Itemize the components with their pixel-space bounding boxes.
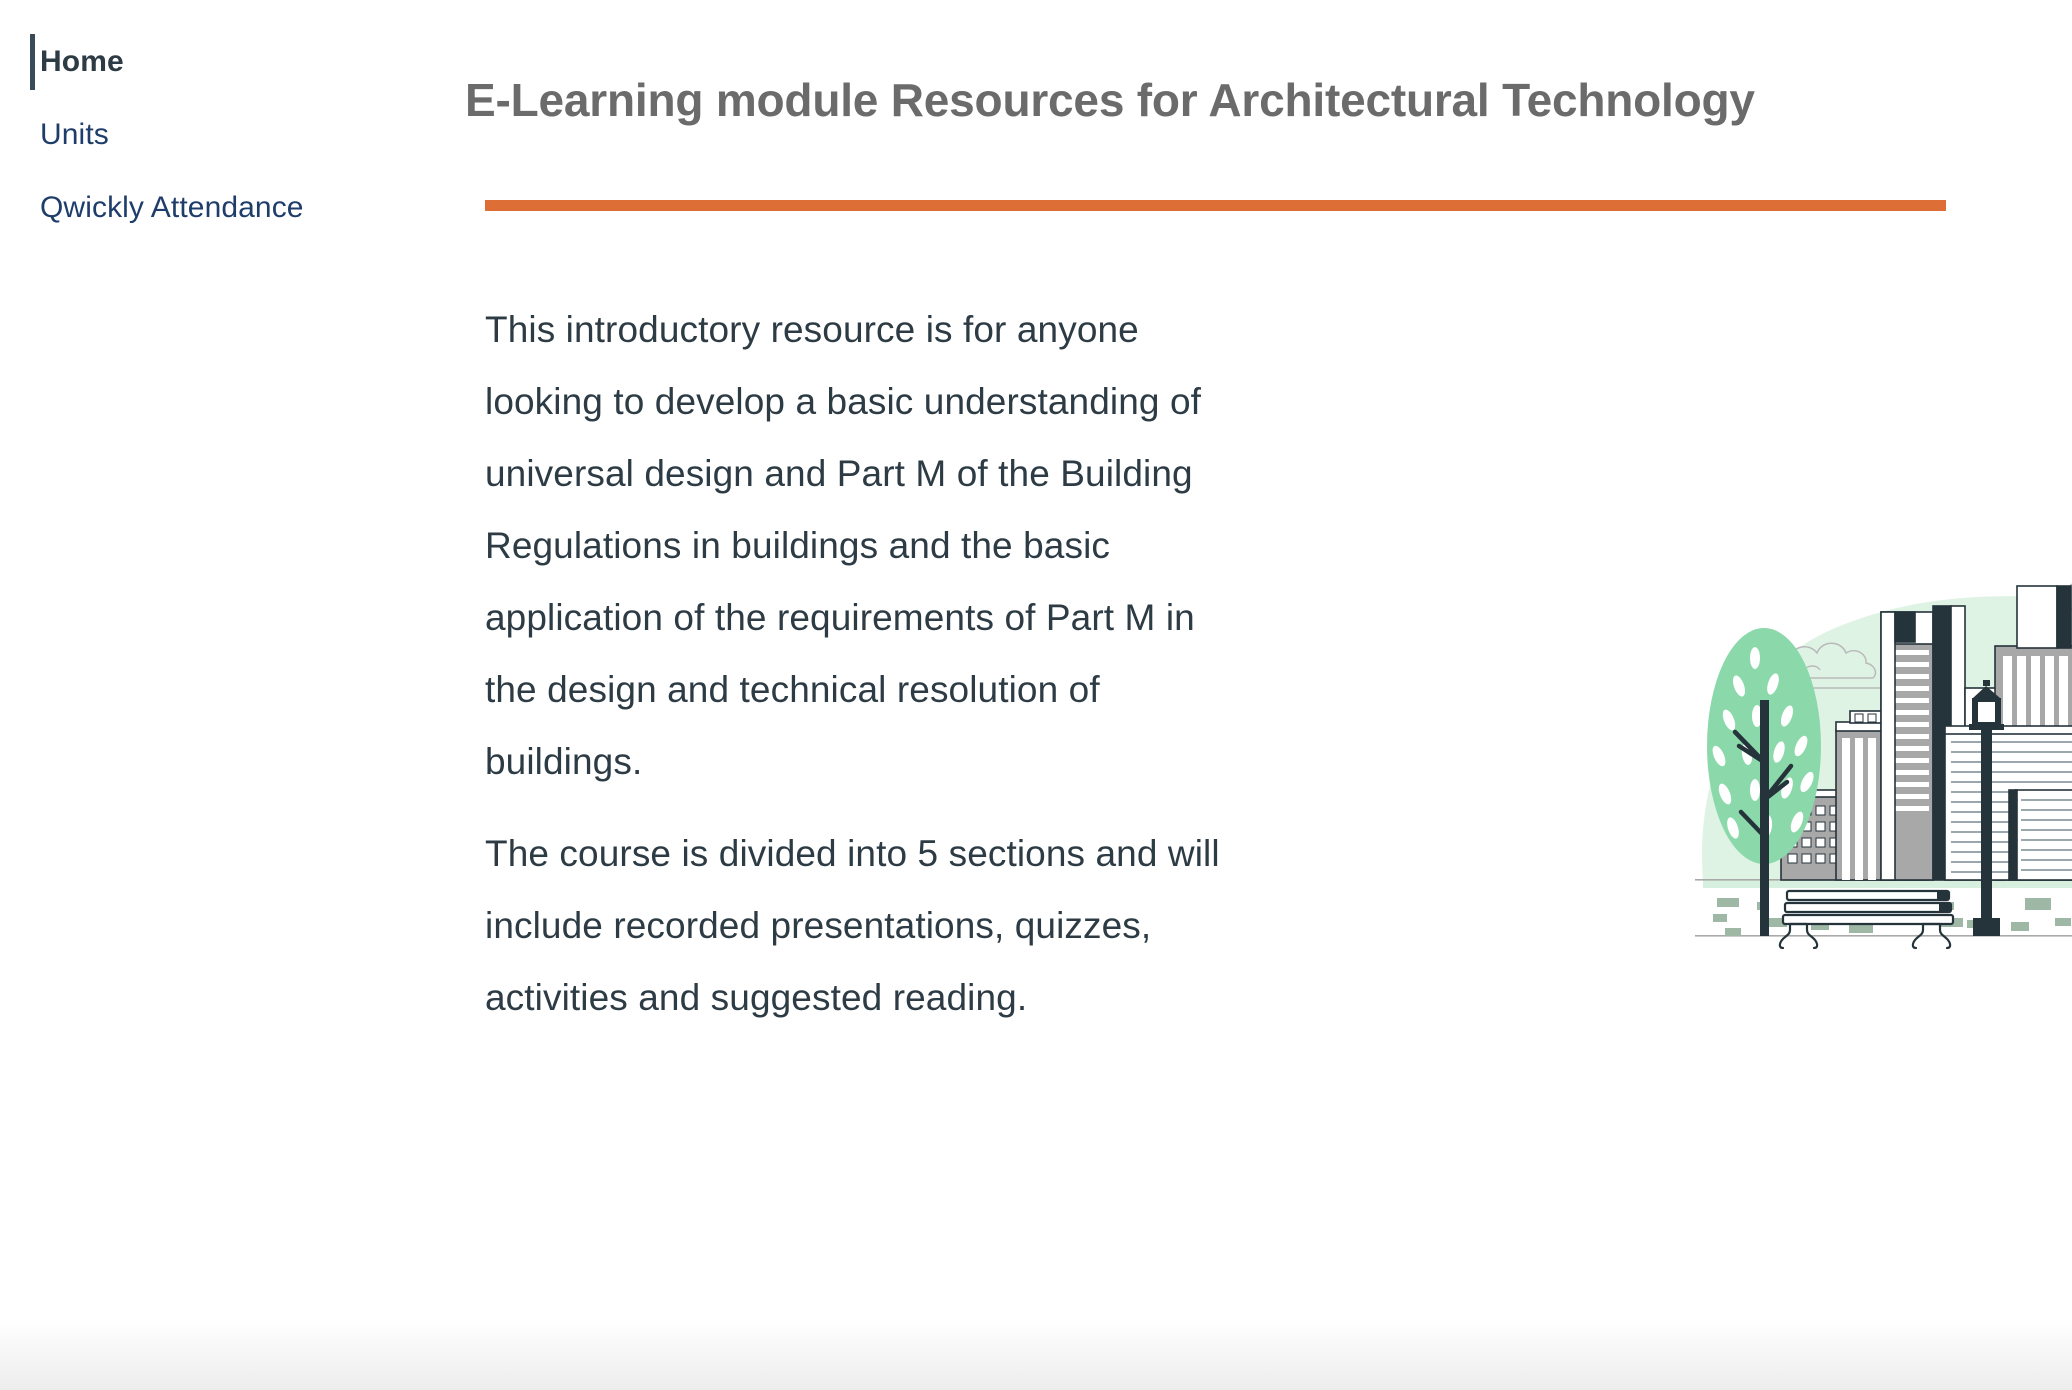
cta-suffix-text: tab to access the course content. (723, 1333, 1280, 1374)
sidebar-item-qwickly-attendance[interactable]: Qwickly Attendance (0, 190, 430, 226)
tree-left (1707, 628, 1821, 936)
intro-paragraph: This introductory resource is for anyone… (485, 294, 1255, 798)
city-skyline-illustration (1695, 550, 2072, 980)
cta-prefix-text: Click the (485, 1333, 638, 1374)
sidebar-item-label-units: Units (40, 118, 109, 151)
sidebar-item-home[interactable]: Home (0, 44, 430, 80)
sidebar-item-units[interactable]: Units (0, 117, 430, 153)
page-title: E-Learning module Resources for Architec… (465, 72, 2025, 128)
course-structure-paragraph: The course is divided into 5 sections an… (485, 818, 1255, 1034)
main-content: E-Learning module Resources for Architec… (430, 0, 2072, 1390)
course-navigation-sidebar: Home Units Qwickly Attendance (0, 0, 430, 1390)
page-root: Home Units Qwickly Attendance E-Learning… (0, 0, 2072, 1390)
sidebar-item-label-home: Home (40, 45, 124, 78)
building-horizontal-stripe-tower (1945, 726, 2072, 880)
call-to-action-line: Click the Units tab to access the course… (485, 1318, 1280, 1390)
active-indicator-bar (30, 34, 35, 90)
body-text-column: This introductory resource is for anyone… (485, 294, 1255, 1034)
park-bench (1780, 891, 1953, 948)
units-tab-link[interactable]: Units (638, 1333, 723, 1374)
title-divider-rule (485, 200, 1946, 211)
sidebar-item-label-qwickly-attendance: Qwickly Attendance (40, 191, 304, 224)
